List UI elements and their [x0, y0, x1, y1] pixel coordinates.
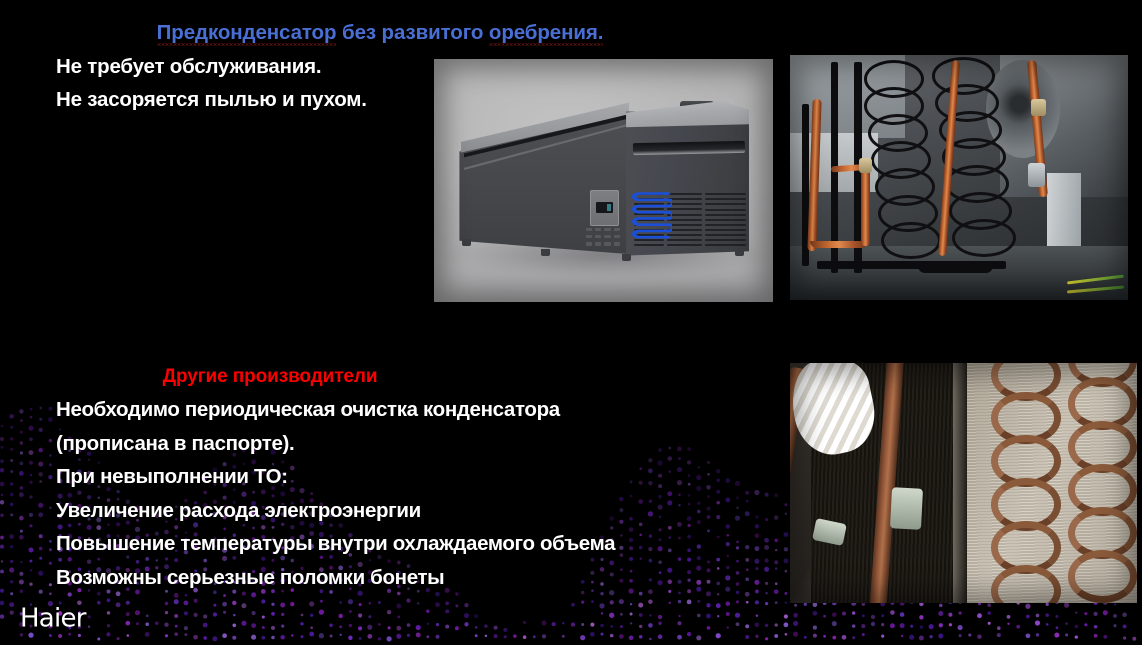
- vent-louver: [705, 193, 747, 195]
- keypad-key[interactable]: [604, 228, 611, 231]
- dirty-condenser-photo: [790, 363, 1137, 603]
- solder-joint: [1031, 99, 1046, 116]
- keypad-key[interactable]: [614, 228, 621, 231]
- freezer-foot: [462, 239, 471, 246]
- freezer-foot: [622, 254, 631, 261]
- freezer-keypad: [586, 228, 622, 249]
- solder-joint: [859, 158, 873, 173]
- keypad-key[interactable]: [604, 235, 611, 238]
- vent-louver: [705, 198, 747, 200]
- other-manufacturers-subhead: Другие производители: [0, 366, 540, 388]
- top-benefit-list: Не требует обслуживания. Не засоряется п…: [56, 50, 367, 116]
- vent-louver: [705, 209, 747, 211]
- solder-joint: [1028, 163, 1045, 188]
- title-misspelled-word-1: Предконденсатор: [157, 21, 337, 46]
- vent-louver: [705, 214, 747, 216]
- page-title: Предконденсатор без развитого оребрения.: [0, 21, 760, 45]
- freezer-control-panel: [590, 190, 620, 227]
- keypad-key[interactable]: [586, 235, 593, 238]
- keypad-key[interactable]: [614, 235, 621, 238]
- drawback-line-4: Увеличение расхода электроэнергии: [56, 494, 615, 528]
- freezer-foot: [735, 249, 744, 256]
- drawback-line-2: (прописана в паспорте).: [56, 427, 615, 461]
- drawback-line-5: Повышение температуры внутри охлаждаемог…: [56, 527, 615, 561]
- title-misspelled-word-2: оребрения.: [489, 21, 603, 46]
- top-benefit-line-2: Не засоряется пылью и пухом.: [56, 83, 367, 116]
- freezer-front-handle-slot: [633, 140, 745, 154]
- haier-logo: Haier: [20, 602, 125, 634]
- keypad-key[interactable]: [595, 235, 602, 238]
- condenser-coils-photo: [790, 55, 1128, 300]
- control-panel-display: [596, 202, 614, 213]
- vent-louver: [705, 203, 747, 205]
- keypad-key[interactable]: [614, 242, 621, 245]
- vent-louver: [705, 224, 747, 226]
- keypad-key[interactable]: [595, 242, 602, 245]
- other-manufacturers-drawback-list: Необходимо периодическая очистка конденс…: [56, 393, 615, 594]
- drawback-line-3: При невыполнении ТО:: [56, 460, 615, 494]
- presentation-slide: Предконденсатор без развитого оребрения.…: [0, 0, 1142, 645]
- corrosion-deposit: [890, 487, 923, 529]
- freezer-foot: [541, 249, 550, 256]
- vent-louver: [705, 219, 747, 221]
- title-middle-text: без развитого: [336, 21, 489, 44]
- top-benefit-line-1: Не требует обслуживания.: [56, 50, 367, 83]
- drawback-line-6: Возможны серьезные поломки бонеты: [56, 561, 615, 595]
- haier-logo-text: Haier: [20, 604, 87, 634]
- vent-louver: [705, 234, 747, 236]
- product-render-image: [434, 59, 773, 302]
- vent-louver: [705, 244, 747, 246]
- coil-return-bend: [918, 266, 992, 273]
- copper-refrigerant-pipe: [810, 241, 867, 248]
- keypad-key[interactable]: [586, 228, 593, 231]
- keypad-key[interactable]: [595, 228, 602, 231]
- coil-frame-edge: [953, 363, 967, 603]
- freezer-body: [459, 100, 749, 265]
- keypad-key[interactable]: [586, 242, 593, 245]
- copper-u-bend: [1068, 550, 1137, 602]
- vent-louver: [705, 229, 747, 231]
- drawback-line-1: Необходимо периодическая очистка конденс…: [56, 393, 615, 427]
- precondenser-coil-highlight: [629, 190, 672, 248]
- condenser-coil: [952, 219, 1015, 257]
- vent-louver: [705, 239, 747, 241]
- keypad-key[interactable]: [604, 242, 611, 245]
